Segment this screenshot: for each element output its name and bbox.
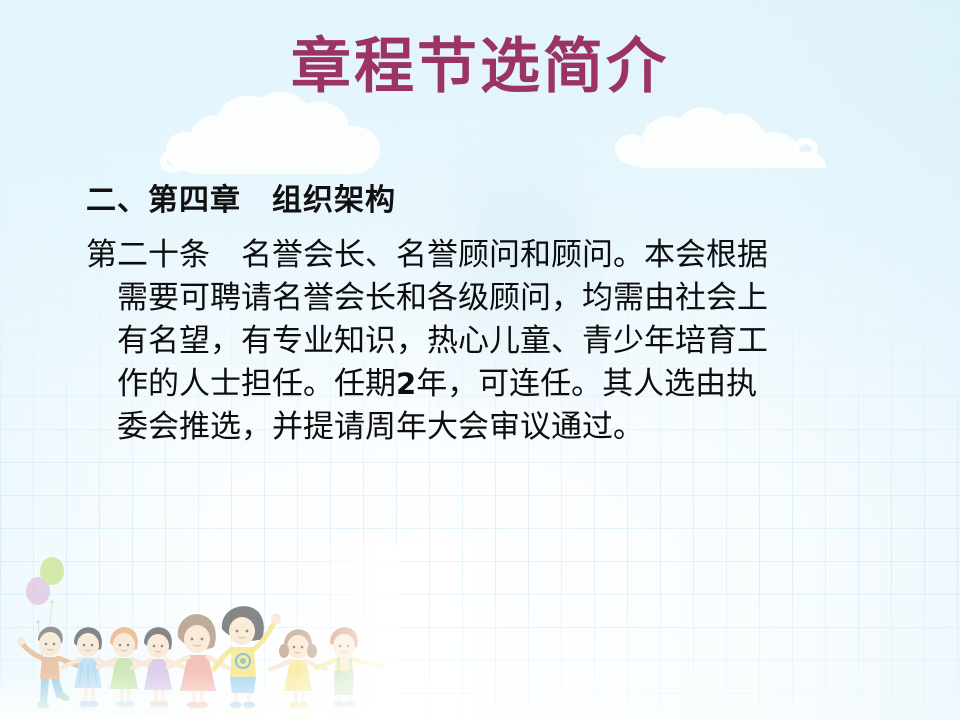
paragraph-line-4: 作的人士担任。任期2年，可连任。其人选由执	[86, 363, 916, 406]
article-paragraph: 第二十条 名誉会长、名誉顾问和顾问。本会根据 需要可聘请名誉会长和各级顾问，均需…	[86, 234, 916, 449]
paragraph-line-4a: 作的人士担任。任期	[117, 366, 396, 402]
paragraph-line-1: 第二十条 名誉会长、名誉顾问和顾问。本会根据	[86, 234, 916, 277]
slide-body: 二、第四章 组织架构 第二十条 名誉会长、名誉顾问和顾问。本会根据 需要可聘请名…	[86, 178, 916, 449]
paragraph-line-3: 有名望，有专业知识，热心儿童、青少年培育工	[86, 320, 916, 363]
slide-title: 章程节选简介	[0, 32, 960, 102]
term-years-value: 2	[396, 367, 416, 401]
section-heading: 二、第四章 组织架构	[86, 178, 916, 224]
paragraph-line-4b: 年，可连任。其人选由执	[416, 366, 757, 402]
paragraph-line-2: 需要可聘请名誉会长和各级顾问，均需由社会上	[86, 277, 916, 320]
slide-canvas: 章程节选简介 二、第四章 组织架构 第二十条 名誉会长、名誉顾问和顾问。本会根据…	[0, 0, 960, 720]
paragraph-line-5: 委会推选，并提请周年大会审议通过。	[86, 406, 916, 449]
